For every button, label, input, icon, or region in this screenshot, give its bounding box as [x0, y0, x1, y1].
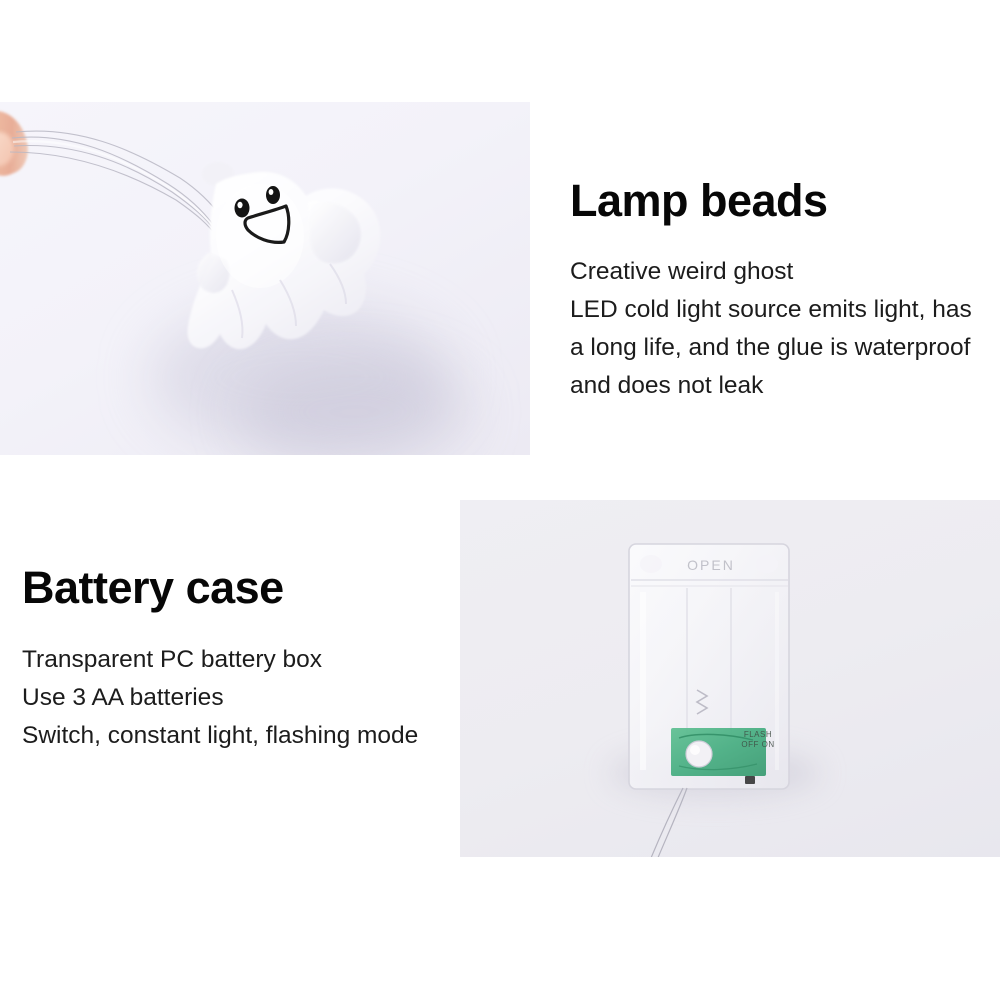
ghost-eye-left	[235, 199, 250, 218]
battery-case-description: Transparent PC battery box Use 3 AA batt…	[22, 641, 452, 755]
description-line: and does not leak	[570, 367, 990, 405]
ghost-eye-right	[266, 186, 280, 204]
pcb-onoff-label: OFF ON	[734, 740, 782, 749]
description-line: Transparent PC battery box	[22, 641, 452, 679]
lamp-beads-description: Creative weird ghost LED cold light sour…	[570, 253, 990, 405]
switch-button	[686, 741, 712, 767]
description-line: Switch, constant light, flashing mode	[22, 717, 452, 755]
battery-case-heading: Battery case	[22, 562, 284, 614]
lamp-beads-heading: Lamp beads	[570, 175, 828, 227]
description-line: Use 3 AA batteries	[22, 679, 452, 717]
open-label: OPEN	[656, 557, 766, 573]
battery-case-photo: OPEN FLASH OFF ON	[460, 500, 1000, 857]
ghost-lamp-bead	[140, 140, 400, 390]
pcb-flash-label: FLASH	[738, 730, 778, 739]
description-line: LED cold light source emits light, has	[570, 291, 990, 329]
ghost-led-lamp-photo	[0, 102, 530, 455]
description-line: Creative weird ghost	[570, 253, 990, 291]
battery-box	[625, 540, 795, 793]
description-line: a long life, and the glue is waterproof	[570, 329, 990, 367]
